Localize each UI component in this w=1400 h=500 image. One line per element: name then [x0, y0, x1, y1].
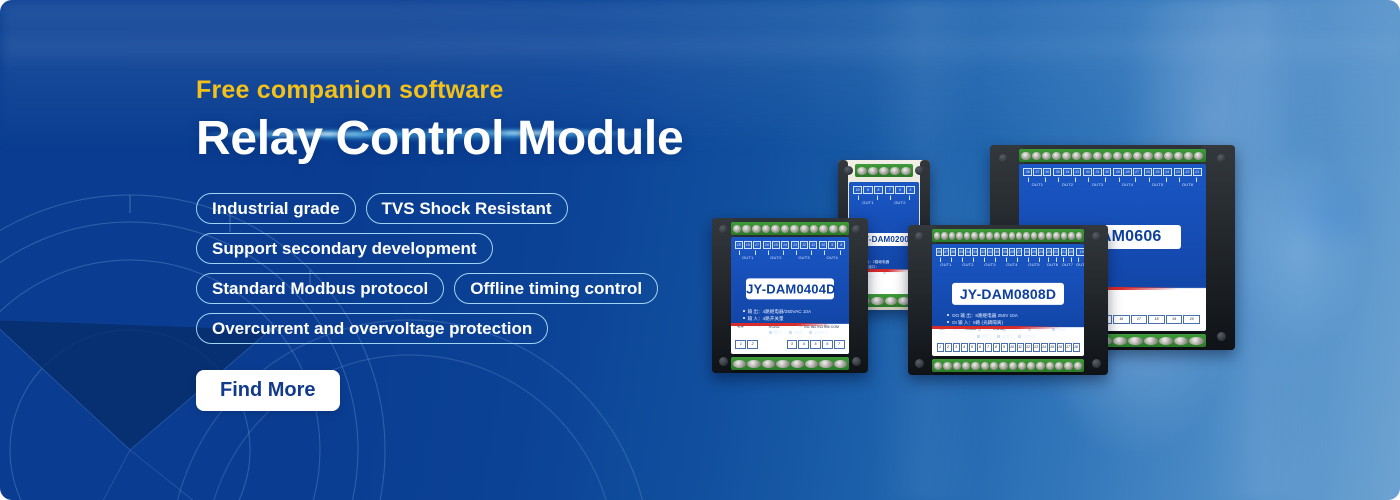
feature-tag-industrial-grade[interactable]: Industrial grade — [196, 193, 356, 224]
output-label: OUT2 — [958, 262, 978, 268]
eyebrow-text: Free companion software — [196, 78, 756, 103]
power-label: 电源 — [938, 326, 945, 331]
bottom-terminal-numbers: 12 34567 — [735, 340, 844, 349]
output-label: OUT4 — [819, 255, 845, 261]
output-label: OUT6 — [1046, 262, 1059, 268]
output-labels-dam0404d: 181917 OUT1 161514 OUT2 131211 OUT3 10 — [731, 237, 850, 261]
input-labels: IN1 IN2 IN3 IN4 COM — [804, 325, 839, 329]
page-title: Relay Control Module — [196, 115, 756, 163]
feature-tag-offline-timing[interactable]: Offline timing control — [454, 273, 658, 304]
output-label: OUT7 — [1061, 262, 1074, 268]
feature-tag-secondary-development[interactable]: Support secondary development — [196, 233, 493, 264]
output-label: OUT6 — [1174, 182, 1202, 188]
output-label: OUT5 — [1024, 262, 1044, 268]
output-label: OUT8 — [1076, 262, 1084, 268]
output-label: OUT1 — [735, 255, 761, 261]
output-label: OUT1 — [853, 200, 883, 206]
output-label: OUT4 — [1002, 262, 1022, 268]
bottom-terminal-numbers: 12345 678910 1112131415 161718 — [937, 343, 1080, 352]
output-label: OUT3 — [1083, 182, 1111, 188]
output-label: OUT3 — [791, 255, 817, 261]
banner-copy: Free companion software Relay Control Mo… — [196, 78, 756, 411]
rs232-label: RS232 — [993, 327, 1004, 331]
product-image-group: 1098 OUT1 765 OUT2 JY-DAM0200 输 出：2路继电器 — [690, 140, 1250, 390]
model-nameplate-dam0404d: JY-DAM0404D — [746, 279, 834, 300]
output-label: OUT2 — [1053, 182, 1081, 188]
output-labels-dam0200: 1098 OUT1 765 OUT2 — [849, 182, 919, 206]
feature-tag-modbus-protocol[interactable]: Standard Modbus protocol — [196, 273, 444, 304]
output-label: OUT5 — [1144, 182, 1172, 188]
feature-tag-tvs-shock-resistant[interactable]: TVS Shock Resistant — [366, 193, 568, 224]
feature-tag-list: Industrial grade TVS Shock Resistant Sup… — [196, 193, 666, 344]
output-label: OUT3 — [980, 262, 1000, 268]
heading-wrap: Relay Control Module — [196, 115, 756, 171]
find-more-button[interactable]: Find More — [196, 370, 340, 411]
output-label: OUT2 — [885, 200, 915, 206]
output-label: OUT2 — [763, 255, 789, 261]
rs485-label: RS485 — [965, 327, 976, 331]
promo-banner: Free companion software Relay Control Mo… — [0, 0, 1400, 500]
rs232-port-label: RS232 — [769, 325, 780, 329]
model-nameplate-dam0808d: JY-DAM0808D — [952, 283, 1065, 305]
output-labels-dam0606: 383736 OUT1 353433 OUT2 323130 OUT3 29 — [1019, 164, 1205, 188]
output-label: OUT1 — [936, 262, 956, 268]
product-module-dam0808d: 383736 OUT1 353433 OUT2 323130 OUT3 29 — [908, 225, 1108, 375]
product-module-dam0404d: 181917 OUT1 161514 OUT2 131211 OUT3 10 — [712, 218, 868, 373]
power-label: 电源 — [737, 324, 744, 329]
output-labels-dam0808d: 383736 OUT1 353433 OUT2 323130 OUT3 29 — [932, 244, 1084, 268]
output-label: OUT4 — [1113, 182, 1141, 188]
output-label: OUT1 — [1023, 182, 1051, 188]
feature-tag-overcurrent-protection[interactable]: Overcurrent and overvoltage protection — [196, 313, 548, 344]
